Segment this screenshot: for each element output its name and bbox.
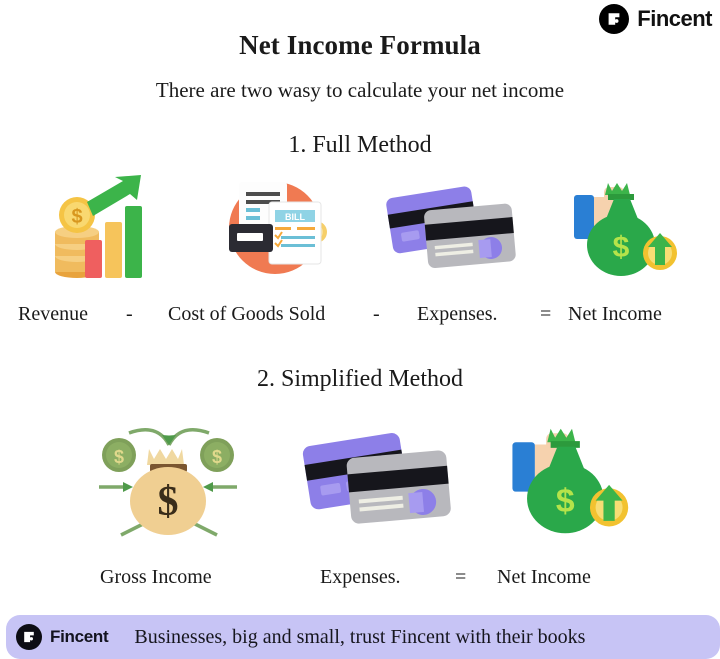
page-subtitle: There are two wasy to calculate your net…: [0, 78, 720, 103]
revenue-growth-chart-icon: $: [45, 174, 150, 287]
equation-term-cogs: Cost of Goods Sold: [168, 303, 325, 326]
credit-cards-icon: [378, 177, 518, 287]
method-1-icon-row: $: [0, 172, 720, 287]
svg-text:$: $: [612, 231, 629, 264]
equation-term-expenses: Expenses.: [417, 303, 498, 326]
page-title: Net Income Formula: [0, 30, 720, 61]
expenses-term-icon-cell: [360, 177, 535, 287]
fincent-logo-icon: [16, 624, 42, 650]
equation-operator-equals-2: =: [455, 566, 466, 589]
gross-income-term-icon-cell: $ $ $: [53, 415, 283, 545]
equation-term-gross-income: Gross Income: [100, 566, 212, 589]
svg-text:BILL: BILL: [285, 212, 305, 222]
credit-cards-icon: [295, 422, 455, 545]
svg-text:$: $: [211, 447, 221, 467]
hand-money-bag-icon: $ $: [568, 177, 678, 287]
method-2-icon-row: $ $ $: [0, 415, 720, 545]
svg-text:$: $: [157, 479, 178, 525]
brand-name: Fincent: [637, 6, 712, 32]
footer-tagline: Businesses, big and small, trust Fincent…: [134, 626, 585, 649]
method-1-heading: 1. Full Method: [0, 132, 720, 159]
bill-document-icon: BILL: [213, 172, 333, 287]
money-bag-inflow-icon: $ $ $: [93, 415, 243, 545]
svg-text:$: $: [113, 447, 123, 467]
footer-brand-name: Fincent: [50, 627, 108, 647]
equation-term-net-income: Net Income: [568, 303, 662, 326]
svg-text:$: $: [71, 206, 82, 228]
revenue-term-icon-cell: $: [10, 174, 185, 287]
hand-money-bag-icon: $ $: [505, 422, 630, 545]
method-2-heading: 2. Simplified Method: [0, 366, 720, 393]
equation-operator-minus-2: -: [373, 303, 380, 326]
equation-term-net-income-2: Net Income: [497, 566, 591, 589]
equation-operator-minus-1: -: [126, 303, 133, 326]
equation-operator-equals-1: =: [540, 303, 551, 326]
footer-banner: Fincent Businesses, big and small, trust…: [6, 615, 720, 659]
svg-text:$: $: [556, 482, 575, 520]
equation-term-revenue: Revenue: [18, 303, 88, 326]
net-income-term-icon-cell: $ $: [535, 177, 710, 287]
expenses-term-icon-cell-2: [283, 422, 468, 545]
cogs-term-icon-cell: BILL: [185, 172, 360, 287]
net-income-term-icon-cell-2: $ $: [468, 422, 668, 545]
equation-term-expenses-2: Expenses.: [320, 566, 401, 589]
